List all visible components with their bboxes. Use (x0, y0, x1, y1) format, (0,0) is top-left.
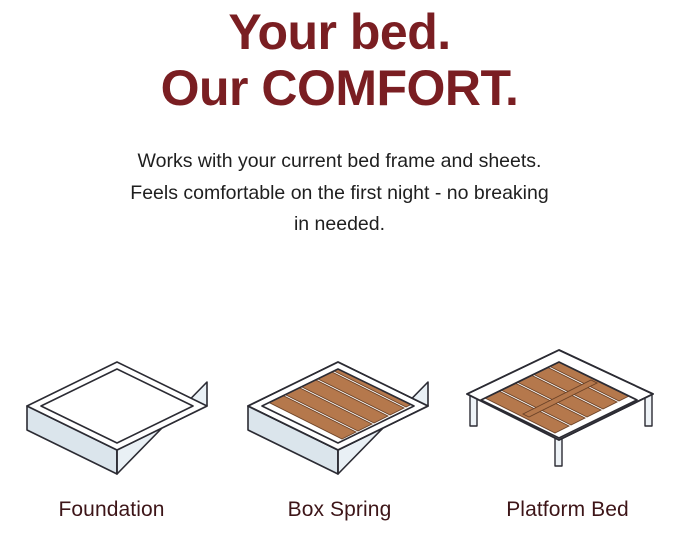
list-item: Box Spring (229, 330, 450, 522)
headline-line-1: Your bed. (0, 4, 679, 60)
foundation-illustration (19, 330, 219, 480)
list-item: Platform Bed (450, 330, 671, 522)
headline-line-2: Our COMFORT. (0, 60, 679, 116)
bed-base-options: Foundation (0, 330, 679, 522)
box-spring-illustration (240, 330, 440, 480)
platform-bed-isometric-slats-legs-icon (461, 330, 661, 480)
platform-bed-illustration (461, 330, 661, 480)
subtitle-line-1: Works with your current bed frame and sh… (0, 146, 679, 178)
list-item-label: Platform Bed (506, 498, 629, 522)
list-item-label: Box Spring (288, 498, 392, 522)
foundation-isometric-box-icon (19, 330, 219, 480)
list-item-label: Foundation (58, 498, 164, 522)
subtitle: Works with your current bed frame and sh… (0, 146, 679, 241)
list-item: Foundation (8, 330, 229, 522)
leg-right (645, 394, 652, 426)
promo-graphic: Your bed. Our COMFORT. Works with your c… (0, 0, 679, 537)
subtitle-line-2: Feels comfortable on the first night - n… (0, 178, 679, 210)
box-spring-isometric-slats-icon (240, 330, 440, 480)
page-title: Your bed. Our COMFORT. (0, 0, 679, 116)
subtitle-line-3: in needed. (0, 209, 679, 241)
